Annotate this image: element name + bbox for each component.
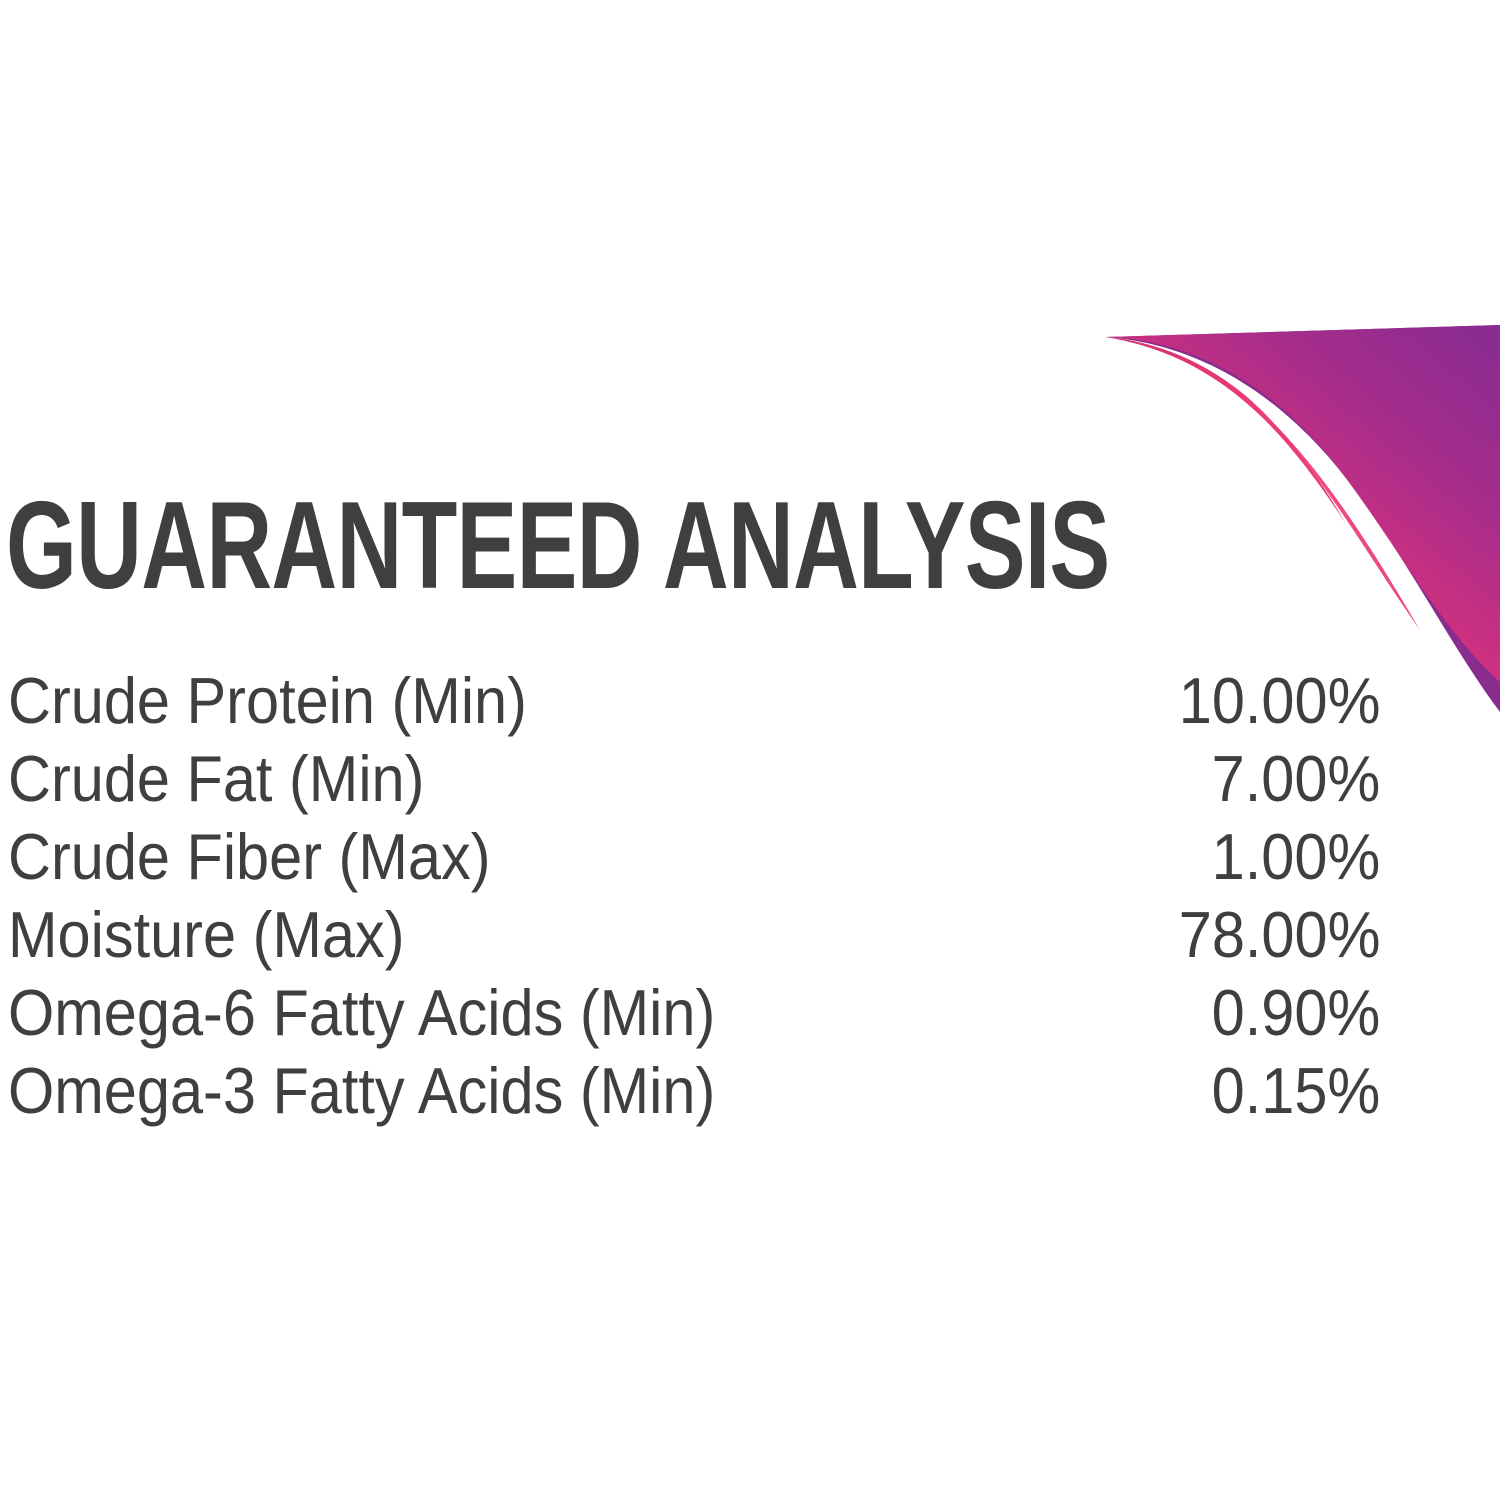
swoosh-pink-layer bbox=[1105, 325, 1500, 682]
nutrient-value: 1.00% bbox=[1211, 822, 1380, 892]
table-row: Omega-3 Fatty Acids (Min) 0.15% bbox=[8, 1056, 1380, 1134]
table-row: Crude Fiber (Max) 1.00% bbox=[8, 822, 1380, 900]
table-row: Crude Fat (Min) 7.00% bbox=[8, 744, 1380, 822]
nutrient-value: 78.00% bbox=[1178, 900, 1380, 970]
nutrient-value: 7.00% bbox=[1211, 744, 1380, 814]
guaranteed-analysis-panel: GUARANTEED ANALYSIS Crude Protein (Min) … bbox=[0, 0, 1500, 1500]
nutrient-label: Moisture (Max) bbox=[8, 900, 405, 970]
nutrient-value: 10.00% bbox=[1178, 666, 1380, 736]
swoosh-purple-layer bbox=[1105, 325, 1500, 712]
table-row: Crude Protein (Min) 10.00% bbox=[8, 666, 1380, 744]
nutrient-value: 0.90% bbox=[1211, 978, 1380, 1048]
nutrient-label: Omega-3 Fatty Acids (Min) bbox=[8, 1056, 715, 1126]
nutrient-label: Crude Fat (Min) bbox=[8, 744, 424, 814]
guaranteed-analysis-table: Crude Protein (Min) 10.00% Crude Fat (Mi… bbox=[8, 666, 1380, 1134]
swoosh-pink-wedge bbox=[1105, 337, 1346, 524]
swoosh-pink-highlight bbox=[1105, 337, 1420, 630]
table-row: Moisture (Max) 78.00% bbox=[8, 900, 1380, 978]
nutrient-label: Crude Fiber (Max) bbox=[8, 822, 491, 892]
page-title: GUARANTEED ANALYSIS bbox=[6, 488, 1109, 604]
nutrient-value: 0.15% bbox=[1211, 1056, 1380, 1126]
nutrient-label: Omega-6 Fatty Acids (Min) bbox=[8, 978, 715, 1048]
nutrient-label: Crude Protein (Min) bbox=[8, 666, 527, 736]
table-row: Omega-6 Fatty Acids (Min) 0.90% bbox=[8, 978, 1380, 1056]
